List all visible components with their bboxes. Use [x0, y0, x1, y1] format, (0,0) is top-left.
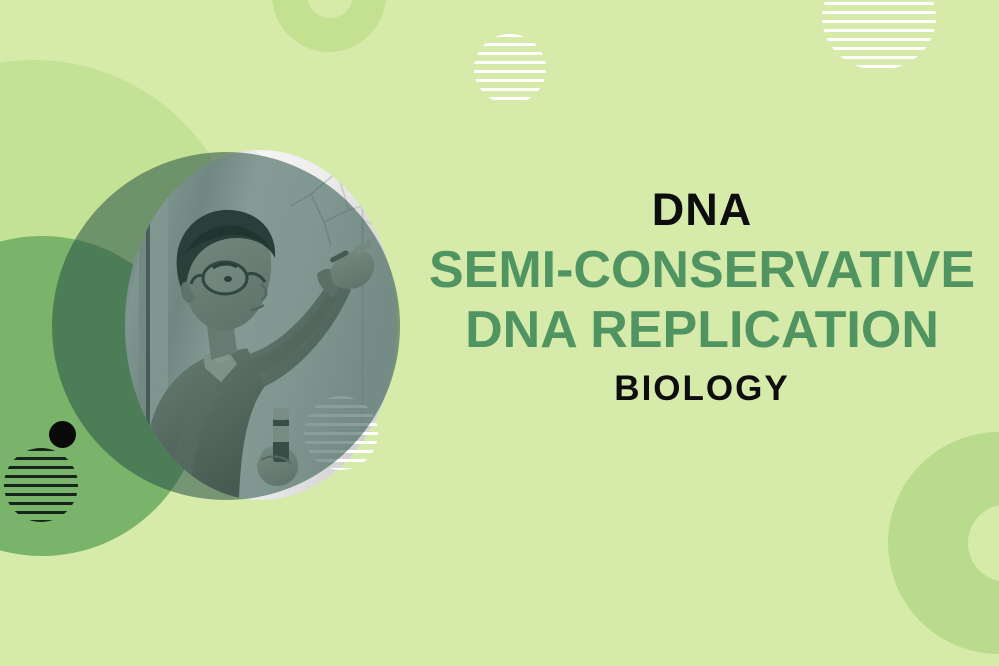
headline-line-2: DNA REPLICATION [424, 301, 980, 360]
striped-circle-top-mid-icon [474, 34, 546, 104]
decorative-dot-icon [49, 421, 76, 448]
striped-circle-bottom-left-icon [4, 448, 78, 522]
headline-line-1: SEMI-CONSERVATIVE [424, 241, 980, 300]
subject-label: BIOLOGY [424, 370, 980, 409]
title-block: DNA SEMI-CONSERVATIVE DNA REPLICATION BI… [424, 186, 980, 408]
eyebrow-title: DNA [424, 186, 980, 233]
striped-circle-top-right-icon [822, 0, 936, 70]
decorative-circle-dark-overlay [52, 152, 400, 500]
poster-canvas: DNA SEMI-CONSERVATIVE DNA REPLICATION BI… [0, 0, 999, 666]
